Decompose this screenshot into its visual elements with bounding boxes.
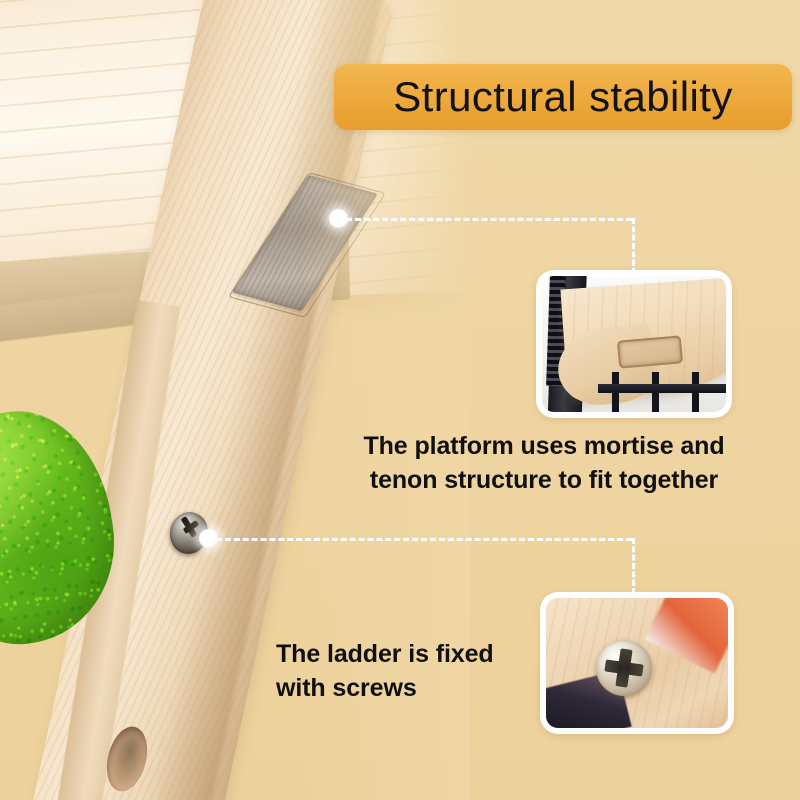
caption-mortise: The platform uses mortise and tenon stru… bbox=[318, 430, 770, 497]
caption-screws-line-2: with screws bbox=[276, 672, 546, 706]
inset-photo-mortise bbox=[542, 276, 726, 412]
caption-mortise-line-1: The platform uses mortise and bbox=[318, 430, 770, 464]
callout-line-screws-horizontal bbox=[216, 538, 632, 541]
inset-card-mortise bbox=[536, 270, 732, 418]
callout-line-mortise-vertical bbox=[632, 218, 635, 274]
caption-screws-line-1: The ladder is fixed bbox=[276, 638, 546, 672]
page-title: Structural stability bbox=[334, 64, 792, 130]
product-feature-image: Structural stability The platform uses m… bbox=[0, 0, 800, 800]
inset-card-screw bbox=[540, 592, 734, 734]
inset-mortise-slot bbox=[617, 335, 683, 368]
callout-line-screws-vertical bbox=[632, 538, 635, 594]
title-banner: Structural stability bbox=[334, 64, 792, 130]
caption-screws: The ladder is fixed with screws bbox=[276, 638, 546, 705]
inset-mortise-cage-rail bbox=[598, 384, 726, 393]
inset-photo-screw bbox=[546, 598, 728, 728]
caption-mortise-line-2: tenon structure to fit together bbox=[318, 464, 770, 498]
callout-line-mortise-horizontal bbox=[346, 218, 632, 221]
